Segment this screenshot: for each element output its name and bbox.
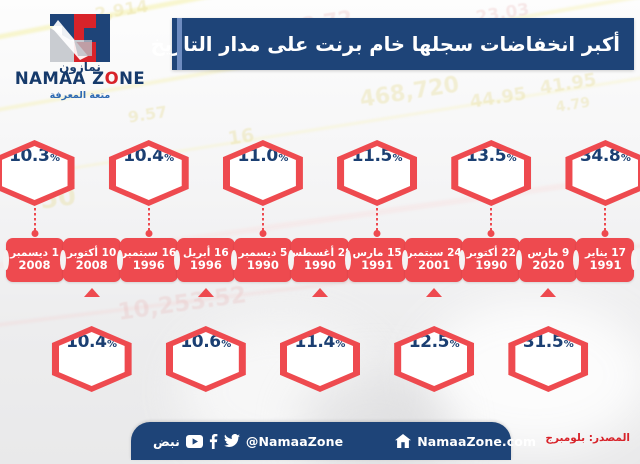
percent-sign: %: [392, 153, 402, 164]
decline-value: 11.5: [352, 146, 392, 166]
decline-value: 11.0: [237, 146, 277, 166]
facebook-icon[interactable]: [209, 434, 218, 449]
social-handle[interactable]: @NamaaZone: [246, 434, 343, 449]
connector-line: [376, 208, 378, 232]
percent-sign: %: [107, 339, 117, 350]
timeline-column: 34.8%17 يناير1991: [574, 104, 636, 400]
percent-sign: %: [621, 153, 631, 164]
page-title: أكبر انخفاضات سجلها خام برنت على مدار ال…: [151, 33, 620, 56]
date-pill: 16 سبتمبر1996: [120, 238, 178, 282]
percent-sign: %: [278, 153, 288, 164]
percent-sign: %: [450, 339, 460, 350]
hexagon-inner: 31.5%: [515, 332, 581, 386]
date-pill: 17 يناير1991: [576, 238, 634, 282]
date-pill: 24 سبتمبر2001: [405, 238, 463, 282]
hexagon-inner: 11.5%: [344, 146, 410, 200]
social-links: نبض @NamaaZone: [153, 434, 343, 449]
percent-sign: %: [50, 153, 60, 164]
date-year: 1991: [589, 259, 621, 273]
brand-logo[interactable]: نمازون NAMAA ZONE متعة المعرفة: [14, 10, 146, 101]
website-link[interactable]: NamaaZone.com: [395, 434, 536, 449]
hexagon-shape: 34.8%: [565, 140, 640, 206]
youtube-icon[interactable]: [186, 435, 203, 448]
page-header: نمازون NAMAA ZONE متعة المعرفة أكبر انخف…: [0, 0, 640, 104]
timeline: 10.3%1 ديسمبر200810.4%10 أكتوبر200810.4%…: [0, 104, 640, 400]
percent-sign: %: [335, 339, 345, 350]
connector-dot: [488, 230, 495, 237]
date-year: 1991: [361, 259, 393, 273]
percent-sign: %: [164, 153, 174, 164]
source-credit: المصدر: بلومبرج: [545, 432, 630, 444]
decline-value: 34.8: [580, 146, 620, 166]
decline-value: 11.4: [295, 332, 335, 352]
date-pill: 16 أبريل1996: [177, 238, 235, 282]
title-accent-bar: [177, 18, 182, 70]
decline-value: 13.5: [466, 146, 506, 166]
connector-line: [262, 208, 264, 232]
decline-value: 10.4: [123, 146, 163, 166]
date-pill: 22 أكتوبر1990: [462, 238, 520, 282]
nabd-label[interactable]: نبض: [153, 434, 180, 449]
percent-sign: %: [221, 339, 231, 350]
date-pill: 10 أكتوبر2008: [63, 238, 121, 282]
connector-line: [490, 208, 492, 232]
decline-value: 10.3: [9, 146, 49, 166]
date-year: 1990: [475, 259, 507, 273]
hexagon-inner: 11.0%: [230, 146, 296, 200]
connector-line: [604, 208, 606, 232]
connector-line: [148, 208, 150, 232]
twitter-icon[interactable]: [224, 434, 240, 448]
date-year: 1996: [190, 259, 222, 273]
home-icon: [395, 434, 411, 448]
date-year: 2008: [76, 259, 108, 273]
hexagon-inner: 10.6%: [173, 332, 239, 386]
value-hexagon-top: 34.8%: [565, 140, 640, 206]
logo-arabic-name: نمازون: [14, 60, 146, 74]
website-label[interactable]: NamaaZone.com: [417, 434, 536, 449]
date-year: 2020: [532, 259, 564, 273]
date-year: 2001: [418, 259, 450, 273]
hexagon-inner: 11.4%: [287, 332, 353, 386]
connector-dot: [374, 230, 381, 237]
date-pill: 28 أغسطس1990: [291, 238, 349, 282]
date-year: 1996: [133, 259, 165, 273]
hexagon-inner: 13.5%: [458, 146, 524, 200]
date-year: 1990: [304, 259, 336, 273]
hexagon-inner: 10.4%: [116, 146, 182, 200]
hexagon-inner: 34.8%: [572, 146, 638, 200]
logo-tagline: متعة المعرفة: [14, 90, 146, 101]
connector-dot: [31, 230, 38, 237]
date-pill: 15 مارس1991: [348, 238, 406, 282]
connector-dot: [259, 230, 266, 237]
connector-line: [34, 208, 36, 232]
date-year: 2008: [19, 259, 51, 273]
hexagon-inner: 10.4%: [59, 332, 125, 386]
decline-value: 10.4: [66, 332, 106, 352]
page-footer: نبض @NamaaZone: [0, 400, 640, 464]
date-pill: 1 ديسمبر2008: [6, 238, 64, 282]
hexagon-inner: 12.5%: [401, 332, 467, 386]
footer-bar: نبض @NamaaZone: [131, 422, 511, 460]
decline-value: 10.6: [180, 332, 220, 352]
connector-dot: [602, 230, 609, 237]
percent-sign: %: [564, 339, 574, 350]
connector-dot: [145, 230, 152, 237]
percent-sign: %: [507, 153, 517, 164]
date-year: 1990: [247, 259, 279, 273]
decline-value: 31.5: [523, 332, 563, 352]
date-pill: 9 مارس2020: [519, 238, 577, 282]
date-pill: 5 ديسمبر1990: [234, 238, 292, 282]
namaa-zone-logo-icon: [44, 10, 116, 66]
decline-value: 12.5: [409, 332, 449, 352]
hexagon-inner: 10.3%: [2, 146, 68, 200]
title-banner: أكبر انخفاضات سجلها خام برنت على مدار ال…: [172, 18, 634, 70]
